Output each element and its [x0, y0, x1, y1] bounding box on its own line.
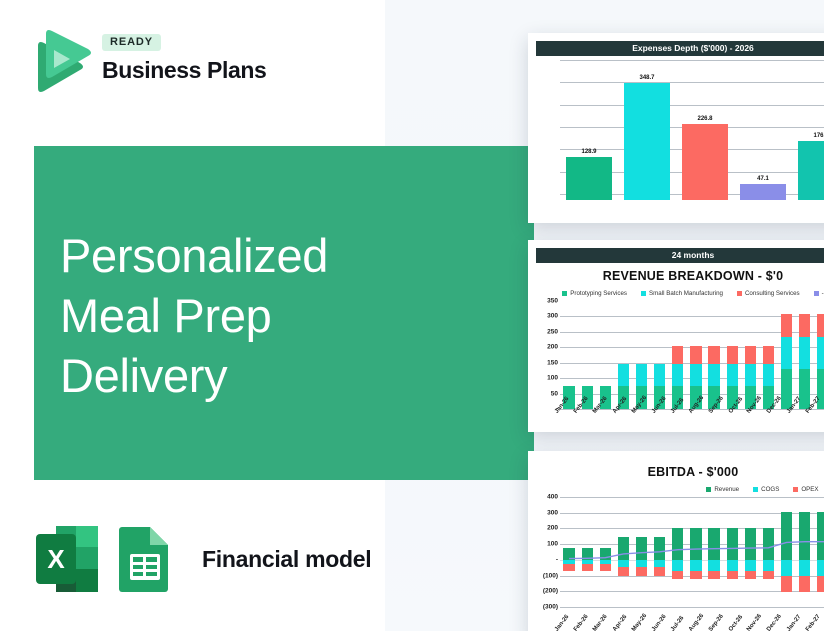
title-line-2: Meal Prep — [60, 286, 480, 346]
legend-swatch — [753, 487, 758, 492]
x-tick-label: Dec-26 — [766, 613, 783, 631]
x-tick-label: Sep-26 — [708, 613, 725, 631]
bar-segment — [727, 346, 738, 365]
y-tick-label: 250 — [547, 328, 558, 335]
revenue-plot-area: 35030025020015010050- — [534, 301, 824, 409]
play-triangle-logo-icon — [30, 28, 94, 94]
y-tick-label: (100) — [543, 572, 558, 579]
x-tick-label: Jan-27 — [786, 614, 802, 631]
gridline — [560, 607, 824, 608]
legend-item: OPEX — [793, 486, 818, 493]
ebitda-chart-title: EBITDA - $'000 — [528, 465, 824, 479]
legend-label: Consulting Services — [745, 290, 800, 297]
bar-value-label: 226.8 — [697, 116, 712, 122]
bar-segment — [654, 364, 665, 386]
bar-slot — [651, 301, 669, 409]
x-tick-label: Apr-26 — [612, 614, 628, 631]
y-tick-label: (200) — [543, 588, 558, 595]
footer-row: X Financial model — [34, 522, 371, 596]
bar-segment — [727, 364, 738, 386]
brand-text: READY Business Plans — [102, 32, 266, 82]
expenses-bars: 128.9348.7226.847.1176.5 — [560, 60, 824, 200]
bar-segment — [690, 364, 701, 386]
chart-card-ebitda[interactable]: EBITDA - $'000 RevenueCOGSOPEX0 40030020… — [528, 451, 824, 631]
bar-slot: 226.8 — [676, 60, 734, 200]
revenue-chart-title: REVENUE BREAKDOWN - $'0 — [528, 269, 824, 283]
bar-slot: 47.1 — [734, 60, 792, 200]
revenue-x-axis: Jan-26Feb-26Mar-26Apr-26May-26Jun-26Jul-… — [554, 411, 824, 417]
y-tick-label: 100 — [547, 541, 558, 548]
bar-slot — [705, 301, 723, 409]
slide-canvas: READY Business Plans Personalized Meal P… — [0, 0, 824, 631]
bar-slot — [633, 301, 651, 409]
y-tick-label: 400 — [547, 494, 558, 501]
legend-swatch — [737, 291, 742, 296]
bar-segment — [708, 346, 719, 365]
bar-value-label: 176.5 — [813, 133, 824, 139]
legend-label: Prototyping Services — [570, 290, 627, 297]
y-tick-label: (300) — [543, 604, 558, 611]
legend-label: - — [822, 290, 824, 297]
y-tick-label: 50 — [551, 390, 558, 397]
revenue-y-axis: 35030025020015010050- — [534, 301, 560, 409]
x-tick-label: May-26 — [631, 613, 648, 631]
legend-label: OPEX — [801, 486, 818, 493]
x-tick-label: Mar-26 — [592, 614, 609, 631]
bar-slot — [669, 301, 687, 409]
ebitda-plot-area: 400300200100-(100)(200)(300) — [534, 497, 824, 607]
bar — [798, 141, 824, 200]
bar-slot — [723, 301, 741, 409]
bar-segment — [781, 314, 792, 337]
bar-segment — [708, 364, 719, 386]
legend-item: Small Batch Manufacturing — [641, 290, 723, 297]
bar-slot — [560, 301, 578, 409]
legend-swatch — [641, 291, 646, 296]
brand-logo: READY Business Plans — [30, 26, 330, 98]
page-title: Personalized Meal Prep Delivery — [60, 226, 480, 406]
chart-card-revenue[interactable]: 24 months REVENUE BREAKDOWN - $'0 Protot… — [528, 240, 824, 432]
bar-segment — [672, 364, 683, 386]
bar-segment — [618, 364, 629, 386]
bar — [566, 157, 611, 200]
x-tick-label: Oct-26 — [728, 614, 744, 631]
bar-slot — [614, 301, 632, 409]
ebitda-legend: RevenueCOGSOPEX0 — [528, 486, 824, 493]
legend-swatch — [706, 487, 711, 492]
bar — [740, 184, 785, 200]
revenue-legend: Prototyping ServicesSmall Batch Manufact… — [528, 290, 824, 297]
legend-swatch — [793, 487, 798, 492]
legend-item: Revenue — [706, 486, 739, 493]
x-tick-label: Feb-27 — [805, 614, 822, 631]
legend-label: COGS — [761, 486, 779, 493]
y-tick-label: 300 — [547, 313, 558, 320]
title-line-3: Delivery — [60, 346, 480, 406]
bar — [682, 124, 727, 200]
bar-segment — [636, 364, 647, 386]
legend-item: - — [814, 290, 824, 297]
bar-segment — [799, 314, 810, 337]
bar-slot — [741, 301, 759, 409]
bar-segment — [817, 314, 824, 337]
y-tick-label: 100 — [547, 375, 558, 382]
microsoft-excel-icon: X — [34, 524, 100, 594]
chart-card-expenses[interactable]: Expenses Depth ($'000) - 2026 128.9348.7… — [528, 33, 824, 223]
svg-text:X: X — [47, 544, 65, 574]
revenue-bars — [560, 301, 824, 409]
bar-segment — [799, 369, 810, 409]
bar-value-label: 348.7 — [639, 75, 654, 81]
bar-segment — [763, 346, 774, 365]
ready-badge: READY — [102, 34, 161, 51]
google-sheets-icon — [116, 524, 174, 594]
bar-segment — [745, 346, 756, 365]
y-tick-label: - — [556, 556, 558, 563]
bar-segment — [763, 364, 774, 386]
financial-model-label: Financial model — [202, 546, 371, 573]
revenue-banner: 24 months — [536, 248, 824, 263]
bar — [624, 83, 669, 200]
bar-slot: 348.7 — [618, 60, 676, 200]
legend-item: COGS — [753, 486, 779, 493]
expenses-chart-title: Expenses Depth ($'000) - 2026 — [536, 41, 824, 56]
y-tick-label: 350 — [547, 298, 558, 305]
bar-value-label: 128.9 — [581, 149, 596, 155]
bar-segment — [799, 337, 810, 369]
bar-segment — [781, 337, 792, 369]
bar-slot — [814, 301, 824, 409]
title-line-1: Personalized — [60, 226, 480, 286]
x-tick-label: Jul-26 — [670, 615, 685, 631]
y-tick-label: 200 — [547, 525, 558, 532]
bar-segment — [745, 364, 756, 386]
legend-item: Prototyping Services — [562, 290, 627, 297]
bar-slot — [778, 301, 796, 409]
ebitda-line-series — [560, 497, 824, 605]
y-tick-label: 150 — [547, 359, 558, 366]
x-tick-label: Jun-26 — [651, 614, 668, 631]
bar-slot — [596, 301, 614, 409]
bar-slot — [687, 301, 705, 409]
bar-slot — [578, 301, 596, 409]
bar-segment — [672, 346, 683, 365]
bar-slot — [759, 301, 777, 409]
bar-slot: 176.5 — [792, 60, 824, 200]
legend-label: Small Batch Manufacturing — [649, 290, 723, 297]
bar-segment — [690, 346, 701, 365]
bar-slot: 128.9 — [560, 60, 618, 200]
y-tick-label: 200 — [547, 344, 558, 351]
brand-name: Business Plans — [102, 58, 266, 82]
legend-item: Consulting Services — [737, 290, 800, 297]
x-tick-label: Aug-26 — [688, 613, 705, 631]
x-tick-label: Nov-26 — [746, 613, 763, 631]
legend-label: Revenue — [714, 486, 739, 493]
expenses-plot-area: 128.9348.7226.847.1176.5 — [534, 60, 824, 200]
legend-swatch — [562, 291, 567, 296]
bar-slot — [796, 301, 814, 409]
y-tick-label: 300 — [547, 509, 558, 516]
ebitda-y-axis: 400300200100-(100)(200)(300) — [534, 497, 560, 607]
x-tick-label: Jan-26 — [554, 614, 570, 631]
legend-swatch — [814, 291, 819, 296]
bar-segment — [817, 337, 824, 369]
bar-value-label: 47.1 — [757, 176, 769, 182]
x-tick-label: Feb-26 — [573, 614, 590, 631]
